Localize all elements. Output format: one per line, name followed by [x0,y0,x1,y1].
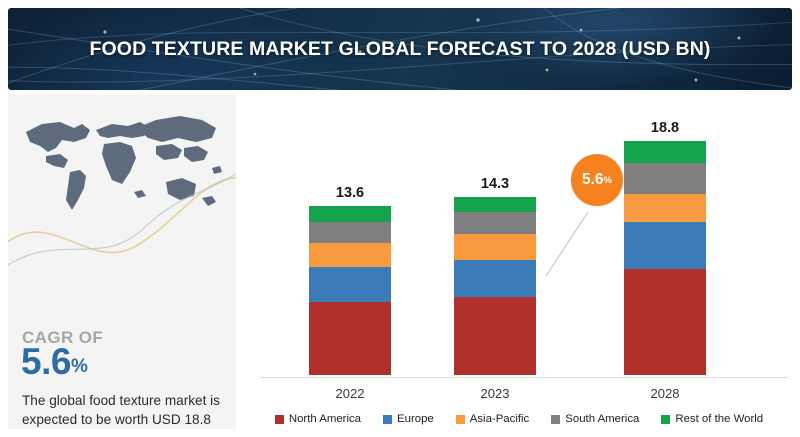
segment-rest-of-the-world-2023 [454,197,536,212]
badge-percent: % [604,175,612,186]
bar-value-label-2023: 14.3 [454,176,536,192]
segment-europe-2023 [454,260,536,296]
header-banner: FOOD TEXTURE MARKET GLOBAL FORECAST TO 2… [8,8,792,90]
infographic-page: FOOD TEXTURE MARKET GLOBAL FORECAST TO 2… [0,0,800,437]
legend-item-north-america[interactable]: North America [275,413,361,425]
cagr-value: 5.6% [21,343,87,380]
segment-europe-2028 [624,222,706,269]
x-axis-label-2028: 2028 [624,386,706,401]
legend-label: North America [289,413,361,425]
bar-2028 [624,141,706,375]
badge-value: 5.6 [582,171,604,189]
legend-item-rest-of-the-world[interactable]: Rest of the World [661,413,763,425]
bar-2023 [454,197,536,375]
sidebar-panel: CAGR OF 5.6% The global food texture mar… [8,94,236,429]
chart-legend: North AmericaEuropeAsia-PacificSouth Ame… [246,413,792,425]
segment-asia-pacific-2022 [309,243,391,267]
segment-south-america-2022 [309,222,391,243]
segment-rest-of-the-world-2022 [309,206,391,222]
segment-north-america-2022 [309,302,391,375]
segment-north-america-2023 [454,297,536,375]
segment-south-america-2023 [454,212,536,234]
cagr-badge: 5.6% [571,154,623,206]
cagr-number: 5.6 [21,341,71,382]
decorative-swoosh-icon [8,154,236,294]
sidebar-description: The global food texture market is expect… [22,391,227,429]
page-title: FOOD TEXTURE MARKET GLOBAL FORECAST TO 2… [8,38,792,61]
bar-2022 [309,206,391,375]
chart-area: 13.6202214.3202318.82028 5.6% North Amer… [246,94,792,429]
legend-swatch-icon [551,415,560,424]
segment-asia-pacific-2023 [454,234,536,260]
x-axis-line [260,377,788,378]
x-axis-label-2023: 2023 [454,386,536,401]
segment-north-america-2028 [624,269,706,375]
legend-item-south-america[interactable]: South America [551,413,639,425]
x-axis-label-2022: 2022 [309,386,391,401]
legend-label: South America [565,413,639,425]
bar-value-label-2028: 18.8 [624,120,706,136]
bar-value-label-2022: 13.6 [309,185,391,201]
legend-swatch-icon [275,415,284,424]
legend-label: Europe [397,413,434,425]
segment-rest-of-the-world-2028 [624,141,706,163]
legend-swatch-icon [661,415,670,424]
legend-item-europe[interactable]: Europe [383,413,434,425]
legend-item-asia-pacific[interactable]: Asia-Pacific [456,413,530,425]
segment-south-america-2028 [624,163,706,194]
legend-label: Asia-Pacific [470,413,530,425]
legend-swatch-icon [383,415,392,424]
legend-label: Rest of the World [675,413,763,425]
segment-europe-2022 [309,267,391,302]
legend-swatch-icon [456,415,465,424]
cagr-percent: % [71,356,87,377]
segment-asia-pacific-2028 [624,194,706,221]
